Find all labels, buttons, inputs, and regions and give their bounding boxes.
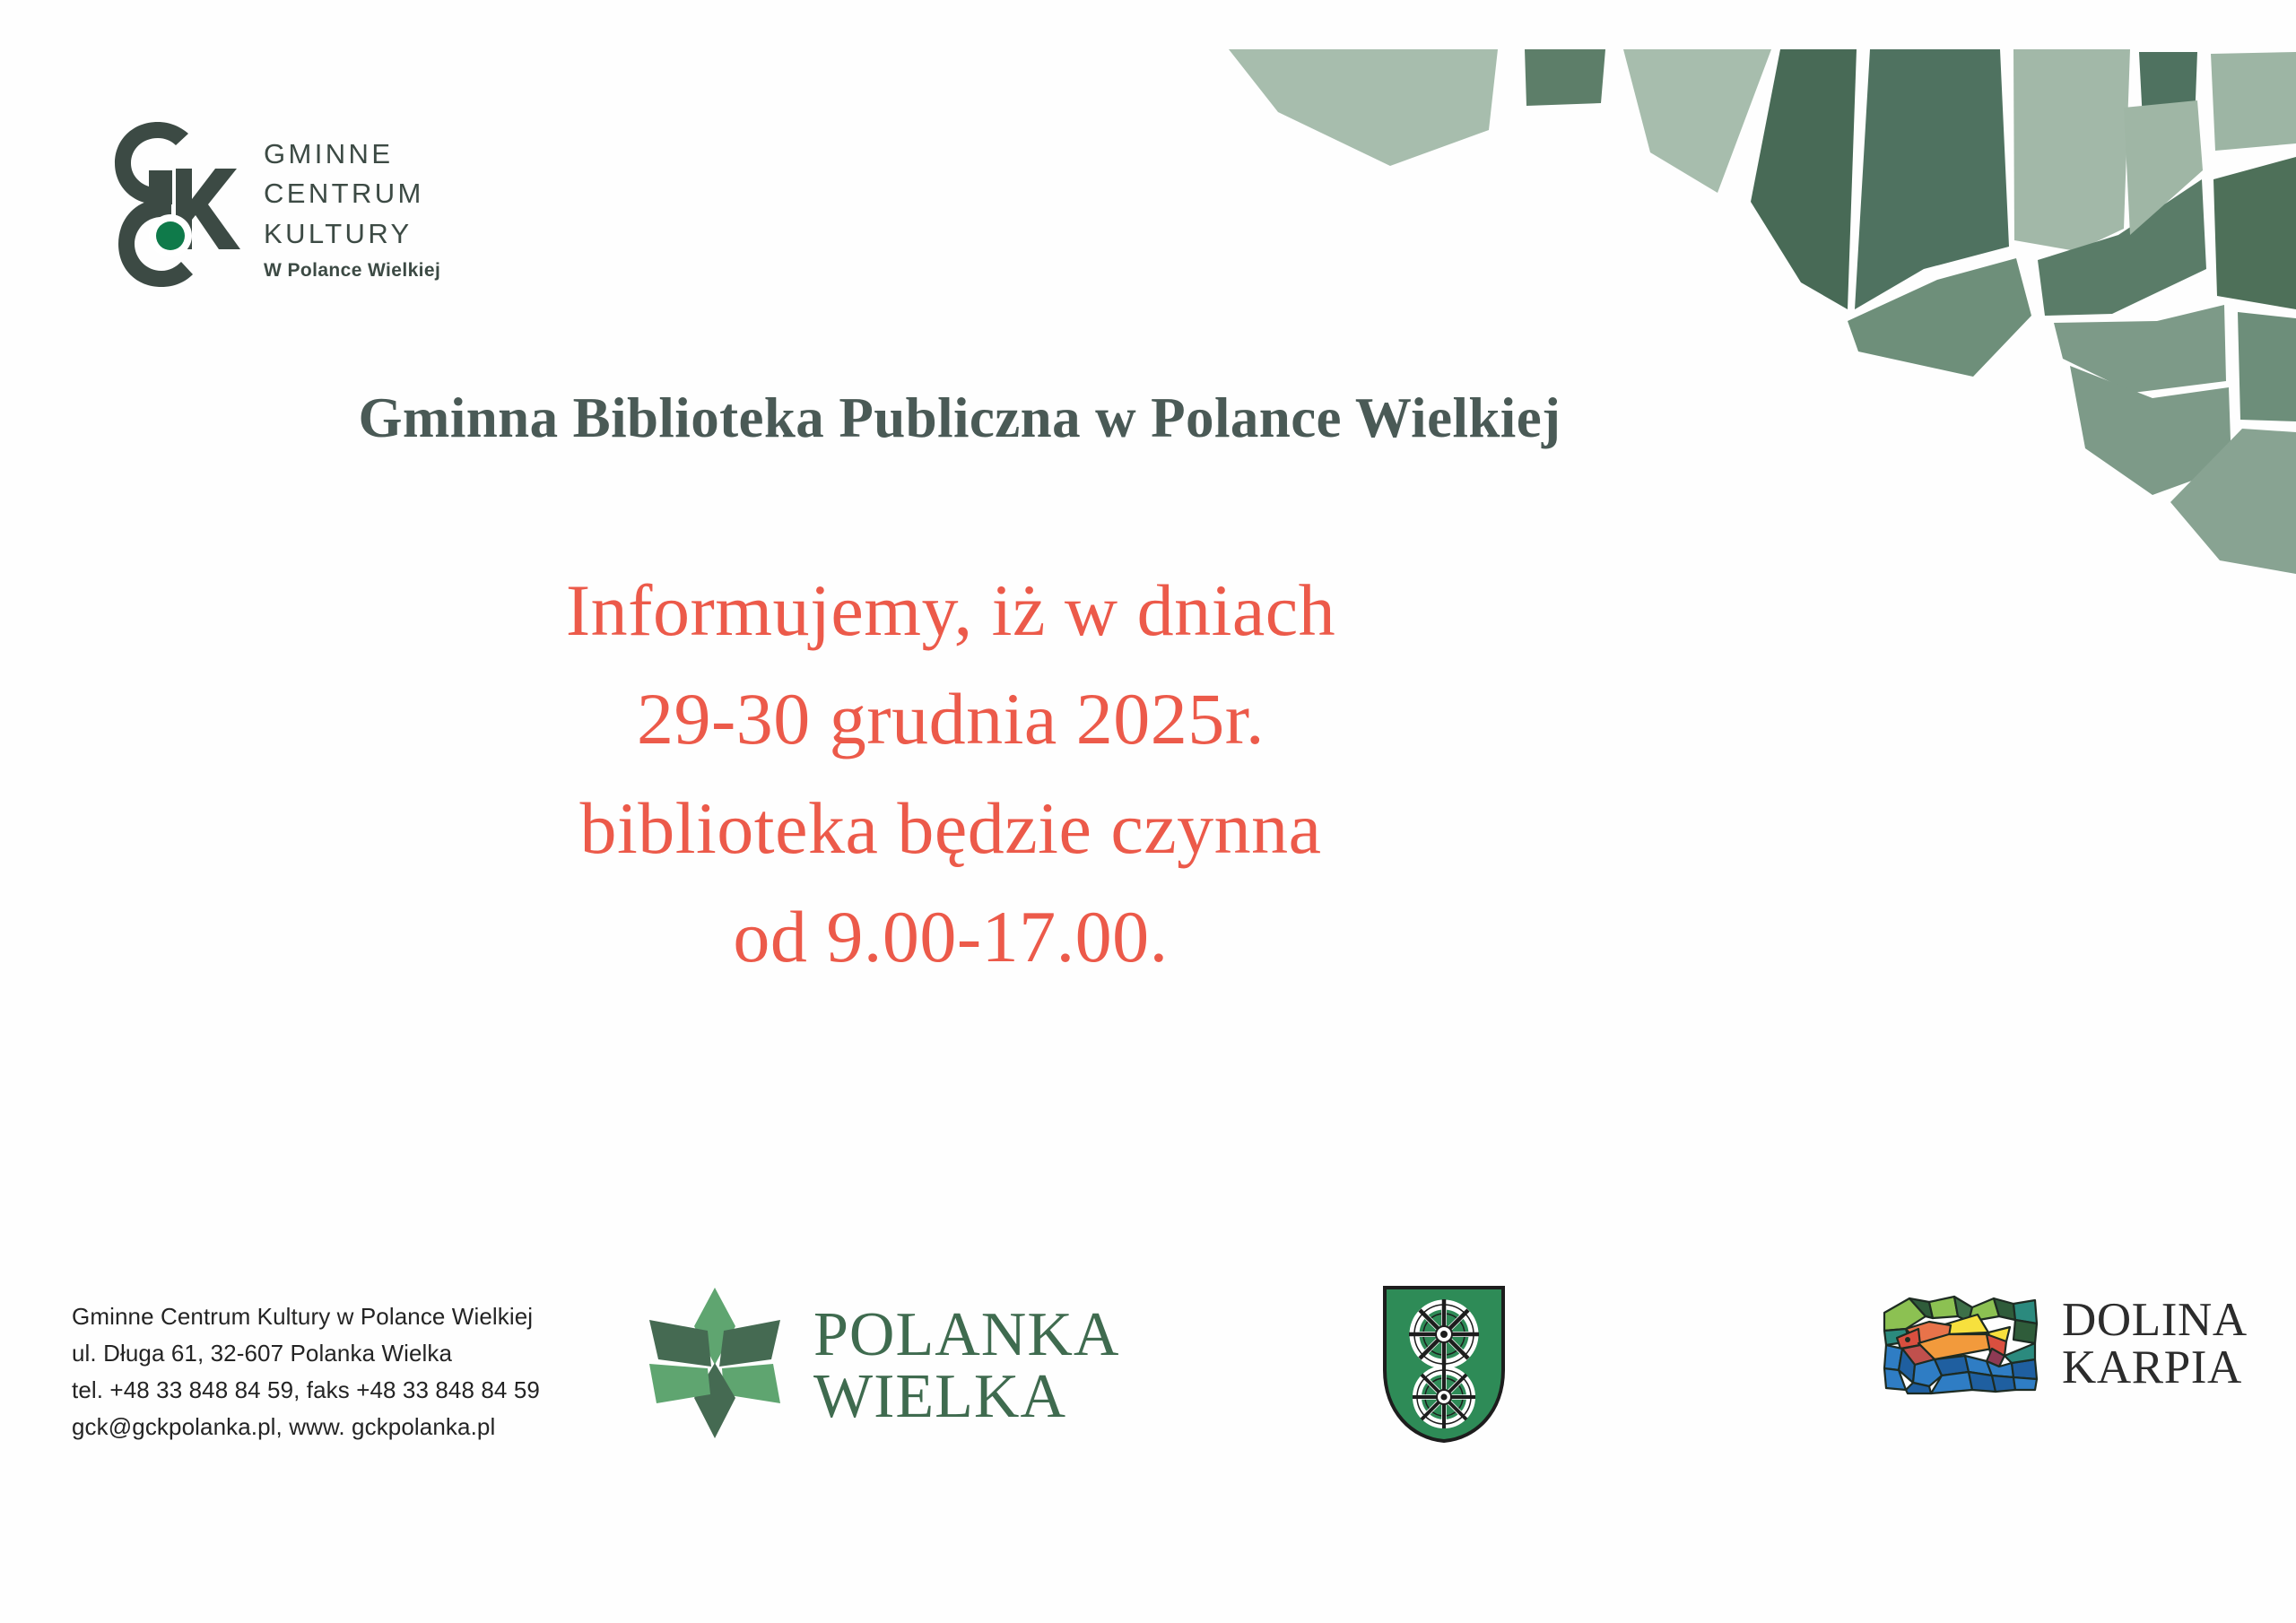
footer-phone: tel. +48 33 848 84 59, faks +48 33 848 8… [72, 1372, 540, 1409]
gck-logo-line-3: KULTURY [264, 214, 440, 254]
message-line-4: od 9.00-17.00. [0, 882, 1901, 991]
message-line-3: biblioteka będzie czynna [0, 774, 1901, 882]
karpia-wordmark-line-1: DOLINA [2062, 1297, 2248, 1344]
message-line-1: Informujemy, iż w dniach [0, 556, 1901, 664]
mosaic-carp-icon [1879, 1289, 2040, 1399]
shield-with-two-mill-wheels-icon [1381, 1284, 1507, 1444]
footer-contact-block: Gminne Centrum Kultury w Polance Wielkie… [72, 1298, 540, 1445]
footer-web: gck@gckpolanka.pl, www. gckpolanka.pl [72, 1409, 540, 1445]
polanka-wordmark-line-1: POLANKA [813, 1305, 1119, 1367]
dolina-karpia-wordmark: DOLINA KARPIA [2062, 1297, 2248, 1392]
karpia-wordmark-line-2: KARPIA [2062, 1344, 2248, 1392]
polygon-pattern-top-right [1220, 0, 2296, 628]
footer-organization: Gminne Centrum Kultury w Polance Wielkie… [72, 1298, 540, 1335]
gck-logo-line-2: CENTRUM [264, 174, 440, 213]
gck-logo-line-1: GMINNE [264, 135, 440, 174]
dolina-karpia-logo: DOLINA KARPIA [1879, 1289, 2248, 1399]
gck-monogram-icon [106, 117, 240, 287]
page-title: Gminna Biblioteka Publiczna w Polance Wi… [0, 386, 1919, 451]
poster-page: GMINNE CENTRUM KULTURY W Polance Wielkie… [0, 0, 2296, 1623]
polanka-wielka-wordmark: POLANKA WIELKA [813, 1296, 1119, 1428]
six-point-star-icon [637, 1277, 794, 1447]
footer-address: ul. Długa 61, 32-607 Polanka Wielka [72, 1335, 540, 1372]
polanka-wielka-logo: POLANKA WIELKA [637, 1277, 1119, 1447]
gck-logo-wordmark: GMINNE CENTRUM KULTURY W Polance Wielkie… [264, 122, 440, 281]
polanka-wordmark-line-2: WIELKA [813, 1367, 1119, 1428]
announcement-message: Informujemy, iż w dniach 29-30 grudnia 2… [0, 556, 1901, 991]
message-line-2: 29-30 grudnia 2025r. [0, 664, 1901, 773]
gck-logo: GMINNE CENTRUM KULTURY W Polance Wielkie… [106, 117, 440, 287]
gck-logo-subtitle: W Polance Wielkiej [264, 260, 440, 282]
